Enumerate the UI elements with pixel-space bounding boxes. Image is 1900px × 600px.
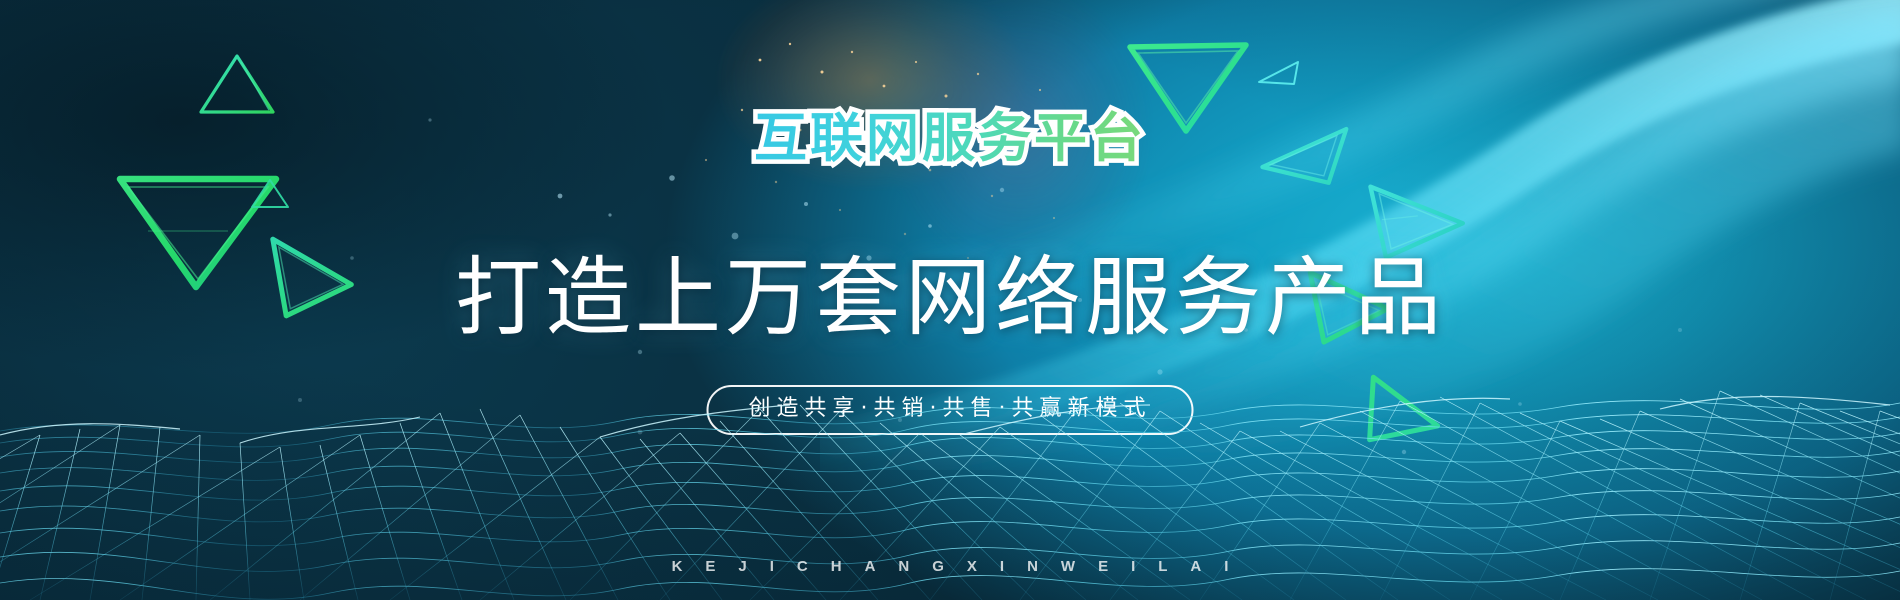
banner-content: 互联网服务平台 互联网服务平台 打造上万套网络服务产品 创造共享·共销·共售·共… (0, 0, 1900, 600)
watermark-pinyin: KEJICHANGXINWEILAI (649, 558, 1252, 575)
subtitle-pill: 创造共享·共销·共售·共赢新模式 (707, 385, 1194, 435)
subtitle-text: 创造共享·共销·共售·共赢新模式 (749, 396, 1152, 421)
hero-banner: 互联网服务平台 互联网服务平台 打造上万套网络服务产品 创造共享·共销·共售·共… (0, 0, 1900, 600)
headline: 打造上万套网络服务产品 (455, 255, 1445, 341)
eyebrow-title-wrap: 互联网服务平台 互联网服务平台 (754, 112, 1146, 165)
eyebrow-title: 互联网服务平台 (754, 108, 1146, 169)
